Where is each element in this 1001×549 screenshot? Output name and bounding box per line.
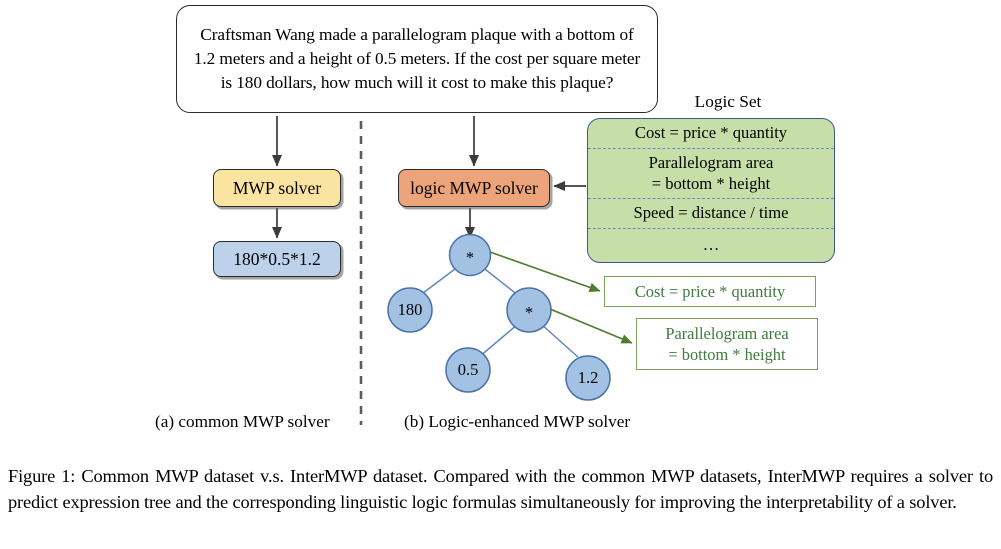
subcaption-a: (a) common MWP solver <box>155 412 330 432</box>
result-expression-box: 180*0.5*1.2 <box>213 241 341 277</box>
tree-node-180-label: 180 <box>390 300 430 320</box>
logic-mwp-solver-label: logic MWP solver <box>410 178 538 199</box>
logic-set-row-parallelogram-line1: Parallelogram area <box>649 153 774 172</box>
logic-set-title: Logic Set <box>668 92 788 112</box>
tree-node-root <box>450 235 491 276</box>
logic-set-row-cost-text: Cost = price * quantity <box>635 123 787 144</box>
tree-edge-root-inner <box>481 266 519 296</box>
tree-node-12 <box>566 356 610 400</box>
tree-node-05 <box>446 348 490 392</box>
annotation-cost-formula: Cost = price * quantity <box>604 276 816 307</box>
annotation-area-formula-line1: Parallelogram area <box>665 324 788 343</box>
mwp-solver-label: MWP solver <box>233 178 321 199</box>
annotation-area-formula-line2: = bottom * height <box>668 345 785 364</box>
annotation-area-formula: Parallelogram area = bottom * height <box>636 318 818 370</box>
logic-set-row-parallelogram: Parallelogram area = bottom * height <box>588 149 834 199</box>
figure-caption: Figure 1: Common MWP dataset v.s. InterM… <box>8 463 993 515</box>
tree-node-inner <box>507 288 551 332</box>
logic-set-box: Cost = price * quantity Parallelogram ar… <box>587 118 835 263</box>
tree-node-05-label: 0.5 <box>448 360 488 380</box>
arrow-inner-to-area-annotation <box>550 309 632 343</box>
tree-node-180 <box>388 288 432 332</box>
logic-set-row-speed-text: Speed = distance / time <box>634 203 789 224</box>
tree-edge-inner-left <box>479 324 518 357</box>
arrow-root-to-cost-annotation <box>490 252 600 291</box>
logic-set-row-cost: Cost = price * quantity <box>588 119 834 149</box>
annotation-area-formula-text: Parallelogram area = bottom * height <box>665 323 788 365</box>
annotation-cost-formula-text: Cost = price * quantity <box>635 281 785 302</box>
logic-set-row-parallelogram-line2: = bottom * height <box>652 174 771 193</box>
problem-statement-box: Craftsman Wang made a parallelogram plaq… <box>176 5 658 113</box>
logic-set-row-ellipsis: … <box>588 229 834 261</box>
logic-set-row-ellipsis-text: … <box>703 235 720 256</box>
figure-container: Craftsman Wang made a parallelogram plaq… <box>0 0 1001 549</box>
logic-set-row-parallelogram-text: Parallelogram area = bottom * height <box>649 153 774 194</box>
tree-node-root-label: * <box>455 248 485 268</box>
logic-set-row-speed: Speed = distance / time <box>588 199 834 229</box>
logic-mwp-solver-box[interactable]: logic MWP solver <box>398 169 550 207</box>
problem-statement-text: Craftsman Wang made a parallelogram plaq… <box>191 23 643 95</box>
tree-edge-inner-right <box>541 324 578 357</box>
tree-node-12-label: 1.2 <box>568 368 608 388</box>
subcaption-b: (b) Logic-enhanced MWP solver <box>404 412 630 432</box>
result-expression-label: 180*0.5*1.2 <box>233 249 321 270</box>
tree-edge-root-left <box>419 266 459 296</box>
tree-node-inner-label: * <box>514 303 544 323</box>
mwp-solver-box[interactable]: MWP solver <box>213 169 341 207</box>
